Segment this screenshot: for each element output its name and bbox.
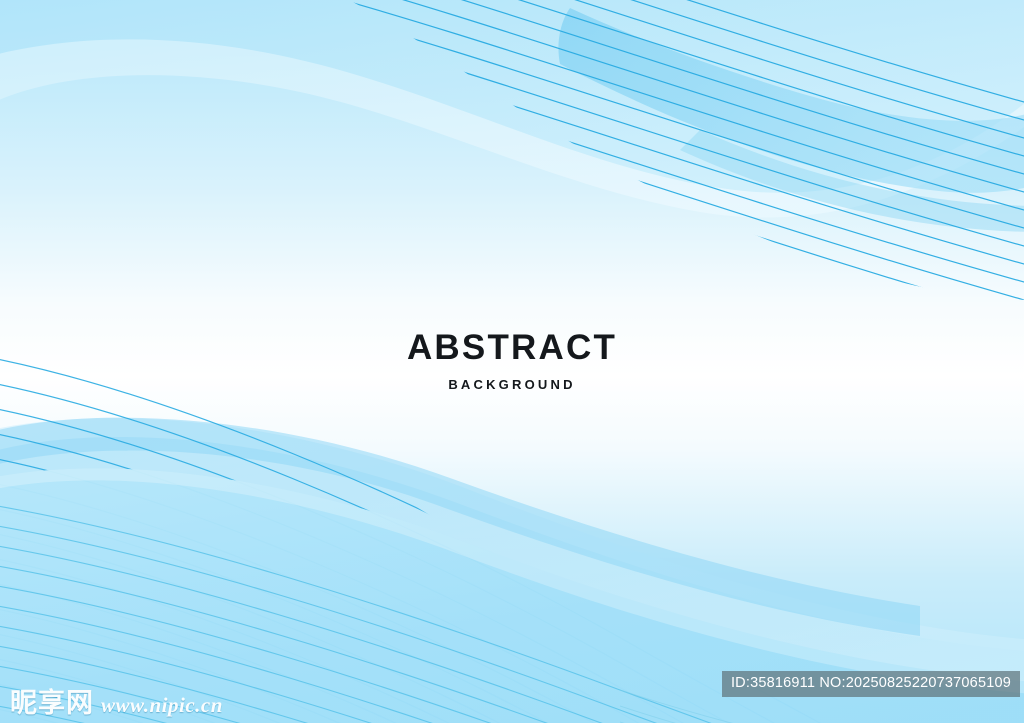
artboard-canvas: ABSTRACT BACKGROUND 昵享网 www.nipic.cn ID:… [0,0,1024,723]
image-id-badge: ID:35816911 NO:20250825220737065109 [722,671,1020,697]
watermark-brand-name: 昵享网 [10,690,94,717]
site-watermark: 昵享网 www.nipic.cn [10,690,223,717]
watermark-url: www.nipic.cn [101,695,223,716]
abstract-background-artwork [0,0,1024,723]
